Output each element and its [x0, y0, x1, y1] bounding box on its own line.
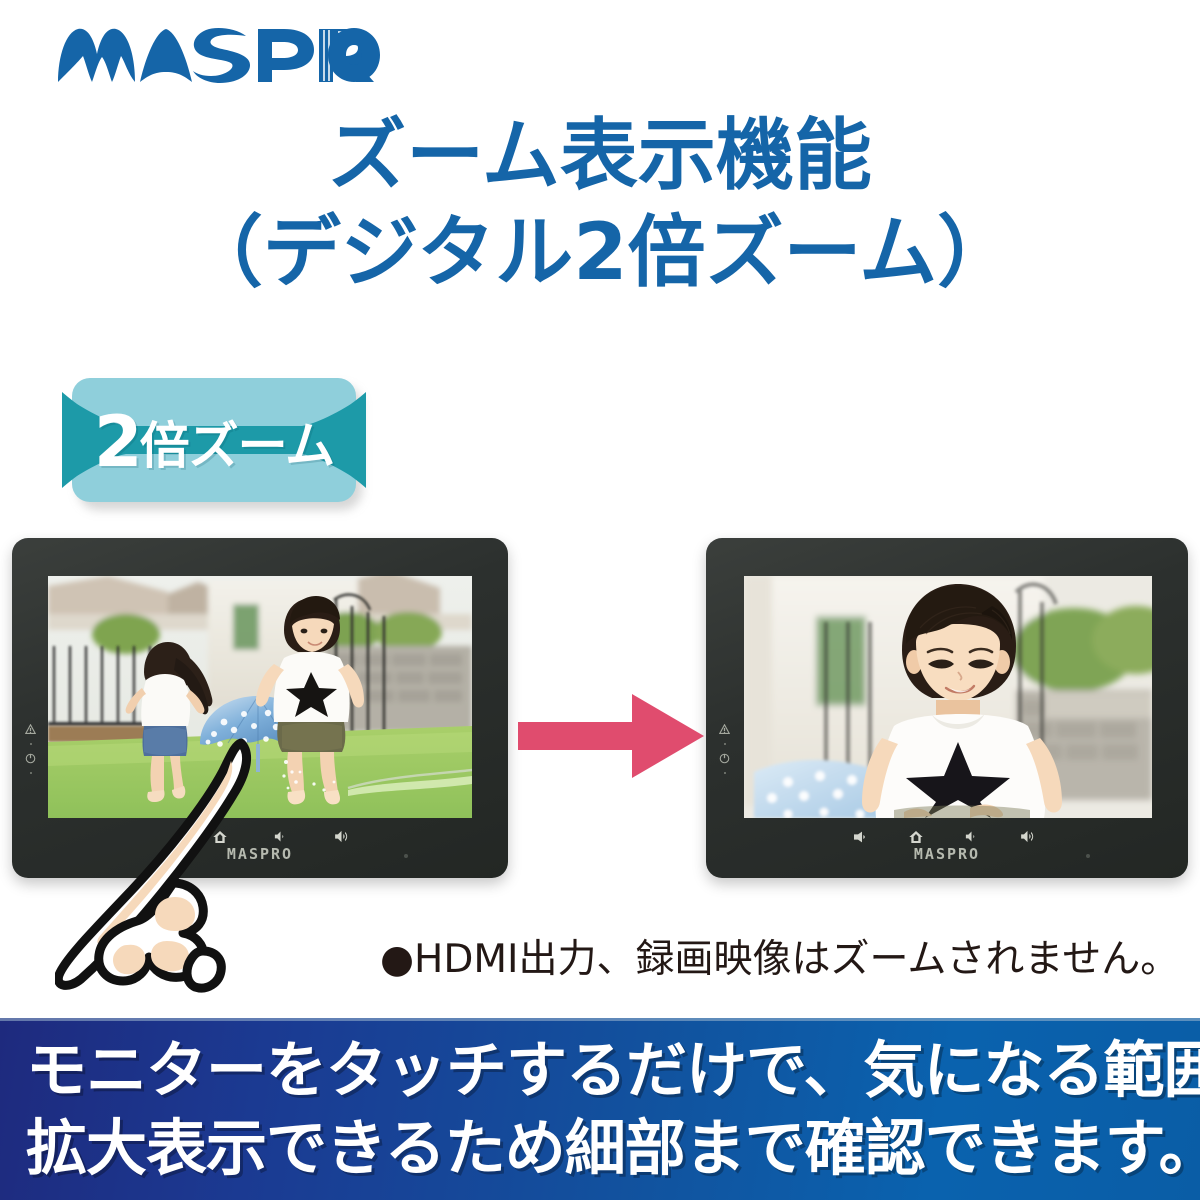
- banner-message: モニターをタッチするだけで、気になる範囲を 拡大表示できるため細部まで確認できま…: [26, 1032, 1186, 1188]
- banner-line2: 拡大表示できるため細部まで確認できます。: [26, 1110, 1186, 1188]
- dot-indicator-icon: [28, 741, 34, 747]
- bottom-banner: モニターをタッチするだけで、気になる範囲を 拡大表示できるため細部まで確認できま…: [0, 1018, 1200, 1200]
- power-indicator-icon: [719, 753, 730, 764]
- transition-arrow-right-icon: [516, 686, 706, 786]
- zoom-badge-label: 2倍ズーム: [72, 380, 356, 504]
- alert-indicator-icon: [719, 724, 730, 735]
- volume-low-icon[interactable]: [964, 829, 979, 844]
- maspro-logo: [56, 26, 386, 84]
- banner-top-rule: [0, 1018, 1200, 1021]
- page-title: ズーム表示機能 （デジタル2倍ズーム）: [0, 108, 1200, 301]
- zoom-badge-multiplier: 2: [94, 411, 142, 474]
- monitor-before-indicators: [25, 724, 36, 776]
- page-title-line1: ズーム表示機能: [328, 111, 872, 201]
- volume-high-icon[interactable]: [333, 828, 350, 845]
- alert-indicator-icon: [25, 724, 36, 735]
- monitor-after-screen[interactable]: [744, 576, 1152, 818]
- pointing-finger-illustration-icon: [55, 735, 330, 995]
- zoom-badge-suffix: 倍ズーム: [140, 406, 335, 478]
- power-indicator-icon: [25, 753, 36, 764]
- monitor-before-mic: [404, 854, 408, 858]
- monitor-after-buttons[interactable]: [852, 828, 1036, 845]
- banner-line1: モニターをタッチするだけで、気になる範囲を: [26, 1032, 1186, 1110]
- note-text: ●HDMI出力、録画映像はズームされません。: [380, 938, 1180, 983]
- scene-zoomed-boy: [744, 576, 1152, 818]
- volume-high-icon[interactable]: [1019, 828, 1036, 845]
- monitor-after-indicators: [719, 724, 730, 776]
- dot-indicator-icon-2: [28, 770, 34, 776]
- promo-page: ズーム表示機能 （デジタル2倍ズーム） 2倍ズーム: [0, 0, 1200, 1200]
- monitor-after[interactable]: MASPRO: [706, 538, 1188, 878]
- page-title-line2: （デジタル2倍ズーム）: [0, 205, 1200, 302]
- zoom-badge: 2倍ズーム: [72, 378, 362, 508]
- dot-indicator-icon-2: [722, 770, 728, 776]
- zoom-icon[interactable]: [852, 829, 868, 845]
- monitor-after-brand: MASPRO: [706, 845, 1188, 863]
- home-icon[interactable]: [908, 829, 924, 845]
- monitor-after-mic: [1086, 854, 1090, 858]
- dot-indicator-icon: [722, 741, 728, 747]
